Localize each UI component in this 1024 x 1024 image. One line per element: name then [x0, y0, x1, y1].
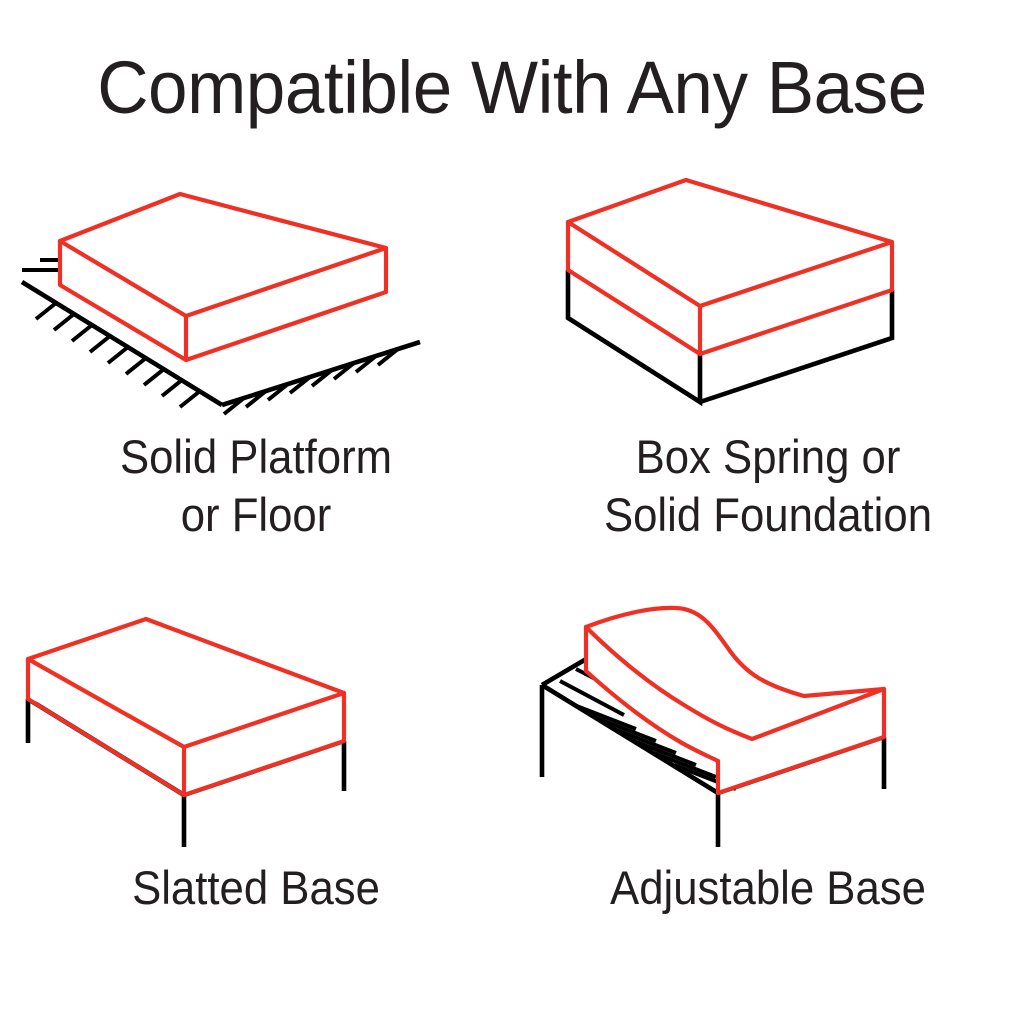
- caption-box-spring-or-solid-foundation: Box Spring or Solid Foundation: [530, 428, 1006, 544]
- figure-solid-platform-or-floor: [0, 170, 512, 420]
- diagram-cell-slatted-base: Slatted Base: [0, 597, 512, 1024]
- caption-solid-platform-or-floor: Solid Platform or Floor: [18, 428, 494, 544]
- figure-adjustable-base: [512, 597, 1024, 847]
- mattress-adjustable-red: [586, 608, 884, 793]
- diagram-cell-box-spring: Box Spring or Solid Foundation: [512, 170, 1024, 597]
- page-title: Compatible With Any Base: [20, 46, 1003, 130]
- mattress-slab-red: [28, 619, 344, 795]
- diagram-grid: Solid Platform or Floor: [0, 170, 1024, 1024]
- diagram-cell-solid-platform: Solid Platform or Floor: [0, 170, 512, 597]
- figure-slatted-base: [0, 597, 512, 847]
- diagram-cell-adjustable-base: Adjustable Base: [512, 597, 1024, 1024]
- illustration-page: Compatible With Any Base: [0, 0, 1024, 1024]
- caption-adjustable-base: Adjustable Base: [530, 859, 1006, 917]
- figure-box-spring-or-solid-foundation: [512, 170, 1024, 420]
- caption-slatted-base: Slatted Base: [18, 859, 494, 917]
